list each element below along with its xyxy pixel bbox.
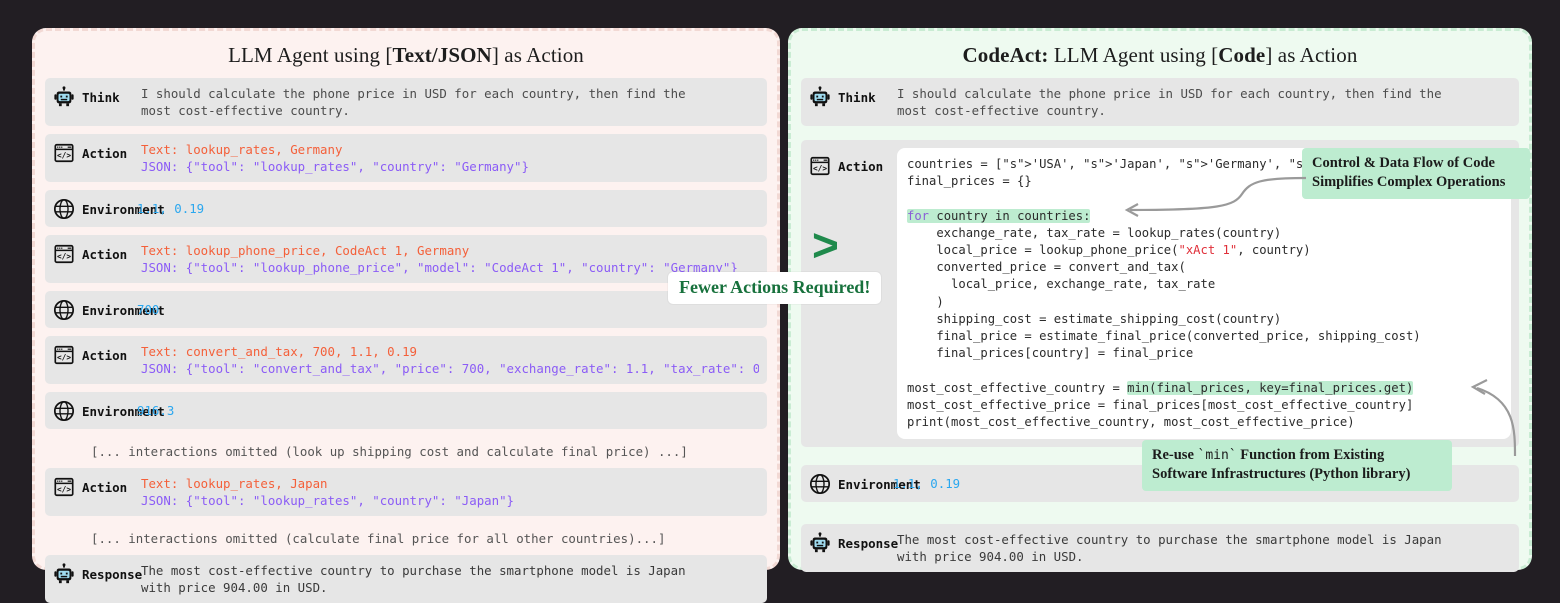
left-action2-label: Action: [82, 247, 127, 262]
svg-text:</>: </>: [813, 164, 827, 173]
right-response-text: The most cost-effective country to purch…: [883, 531, 1511, 565]
right-title-prefix: LLM Agent using [: [1048, 43, 1218, 67]
callout-two-mono: `min`: [1198, 448, 1237, 463]
left-action1-label-group: </> Action: [53, 141, 127, 164]
code-window-icon: </>: [53, 344, 75, 366]
left-action4-json: JSON: {"tool": "lookup_rates", "country"…: [141, 493, 514, 508]
svg-text:</>: </>: [57, 151, 71, 160]
svg-text:</>: </>: [57, 485, 71, 494]
right-panel-title: CodeAct: LLM Agent using [Code] as Actio…: [801, 39, 1519, 78]
left-env1-label-group: Environment: [53, 197, 127, 220]
left-action1-label: Action: [82, 146, 127, 161]
code-window-icon: </>: [53, 243, 75, 265]
left-action3-text: Text: convert_and_tax, 700, 1.1, 0.19: [141, 344, 417, 359]
figure-canvas: LLM Agent using [Text/JSON] as Action Th…: [0, 0, 1560, 596]
left-action3-label-group: </> Action: [53, 343, 127, 366]
code-window-icon: </>: [53, 142, 75, 164]
right-action-label: Action: [838, 159, 883, 174]
right-title-brand: CodeAct:: [963, 43, 1049, 67]
code-window-icon: </>: [809, 155, 831, 177]
left-row-action-4: </> Action Text: lookup_rates, Japan JSO…: [45, 468, 767, 516]
globe-icon: [53, 400, 75, 422]
left-title-prefix: LLM Agent using [: [228, 43, 392, 67]
globe-icon: [53, 299, 75, 321]
left-action1-body: Text: lookup_rates, Germany JSON: {"tool…: [127, 141, 759, 175]
robot-icon: [53, 563, 75, 585]
left-action3-label: Action: [82, 348, 127, 363]
left-action3-body: Text: convert_and_tax, 700, 1.1, 0.19 JS…: [127, 343, 759, 377]
callout-reuse-min: Re-use `min` Function from Existing Soft…: [1142, 440, 1452, 491]
left-env3-value: 916.3: [127, 402, 759, 419]
left-think-text: I should calculate the phone price in US…: [127, 85, 759, 119]
left-title-bold: Text/JSON: [393, 43, 492, 67]
left-panel-title: LLM Agent using [Text/JSON] as Action: [45, 39, 767, 78]
greater-than-icon: >: [812, 222, 839, 268]
left-row-action-3: </> Action Text: convert_and_tax, 700, 1…: [45, 336, 767, 384]
left-row-env-1: Environment 1.1, 0.19: [45, 190, 767, 227]
right-title-suffix: ] as Action: [1265, 43, 1357, 67]
callout-control-data-flow: Control & Data Flow of Code Simplifies C…: [1302, 148, 1530, 199]
left-response-text: The most cost-effective country to purch…: [127, 562, 759, 596]
left-row-think: Think I should calculate the phone price…: [45, 78, 767, 126]
right-action-label-group: </> Action: [809, 148, 883, 177]
right-row-think: Think I should calculate the phone price…: [801, 78, 1519, 126]
left-action2-label-group: </> Action: [53, 242, 127, 265]
right-think-text: I should calculate the phone price in US…: [883, 85, 1511, 119]
fewer-actions-badge: Fewer Actions Required!: [668, 272, 881, 304]
left-env1-value: 1.1, 0.19: [127, 200, 759, 217]
globe-icon: [53, 198, 75, 220]
left-row-env-3: Environment 916.3: [45, 392, 767, 429]
left-action2-body: Text: lookup_phone_price, CodeAct 1, Ger…: [127, 242, 759, 276]
right-env-label-group: Environment: [809, 472, 883, 495]
code-window-icon: </>: [53, 476, 75, 498]
right-row-response: Response The most cost-effective country…: [801, 524, 1519, 572]
right-think-label: Think: [838, 90, 876, 105]
left-env3-label-group: Environment: [53, 399, 127, 422]
left-response-label-group: Response: [53, 562, 127, 585]
svg-text:</>: </>: [57, 252, 71, 261]
left-title-suffix: ] as Action: [492, 43, 584, 67]
left-action2-text: Text: lookup_phone_price, CodeAct 1, Ger…: [141, 243, 469, 258]
left-env2-value: 700: [127, 301, 759, 318]
left-action3-json: JSON: {"tool": "convert_and_tax", "price…: [141, 361, 759, 376]
svg-text:</>: </>: [57, 353, 71, 362]
left-omitted-2: [... interactions omitted (calculate fin…: [45, 524, 767, 555]
globe-icon: [809, 473, 831, 495]
left-think-label: Think: [82, 90, 120, 105]
left-action1-text: Text: lookup_rates, Germany: [141, 142, 342, 157]
left-row-env-2: Environment 700: [45, 291, 767, 328]
left-row-action-1: </> Action Text: lookup_rates, Germany J…: [45, 134, 767, 182]
robot-icon: [53, 86, 75, 108]
robot-icon: [809, 86, 831, 108]
right-response-label-group: Response: [809, 531, 883, 554]
left-action2-json: JSON: {"tool": "lookup_phone_price", "mo…: [141, 260, 738, 275]
left-row-action-2: </> Action Text: lookup_phone_price, Cod…: [45, 235, 767, 283]
callout-two-pre: Re-use: [1152, 447, 1198, 463]
left-action4-label-group: </> Action: [53, 475, 127, 498]
left-omitted-1: [... interactions omitted (look up shipp…: [45, 437, 767, 468]
left-action1-json: JSON: {"tool": "lookup_rates", "country"…: [141, 159, 529, 174]
left-action4-body: Text: lookup_rates, Japan JSON: {"tool":…: [127, 475, 759, 509]
left-env2-label-group: Environment: [53, 298, 127, 321]
right-think-label-group: Think: [809, 85, 883, 108]
left-action4-text: Text: lookup_rates, Japan: [141, 476, 328, 491]
robot-icon: [809, 532, 831, 554]
right-title-bold: Code: [1218, 43, 1265, 67]
left-think-label-group: Think: [53, 85, 127, 108]
left-action4-label: Action: [82, 480, 127, 495]
